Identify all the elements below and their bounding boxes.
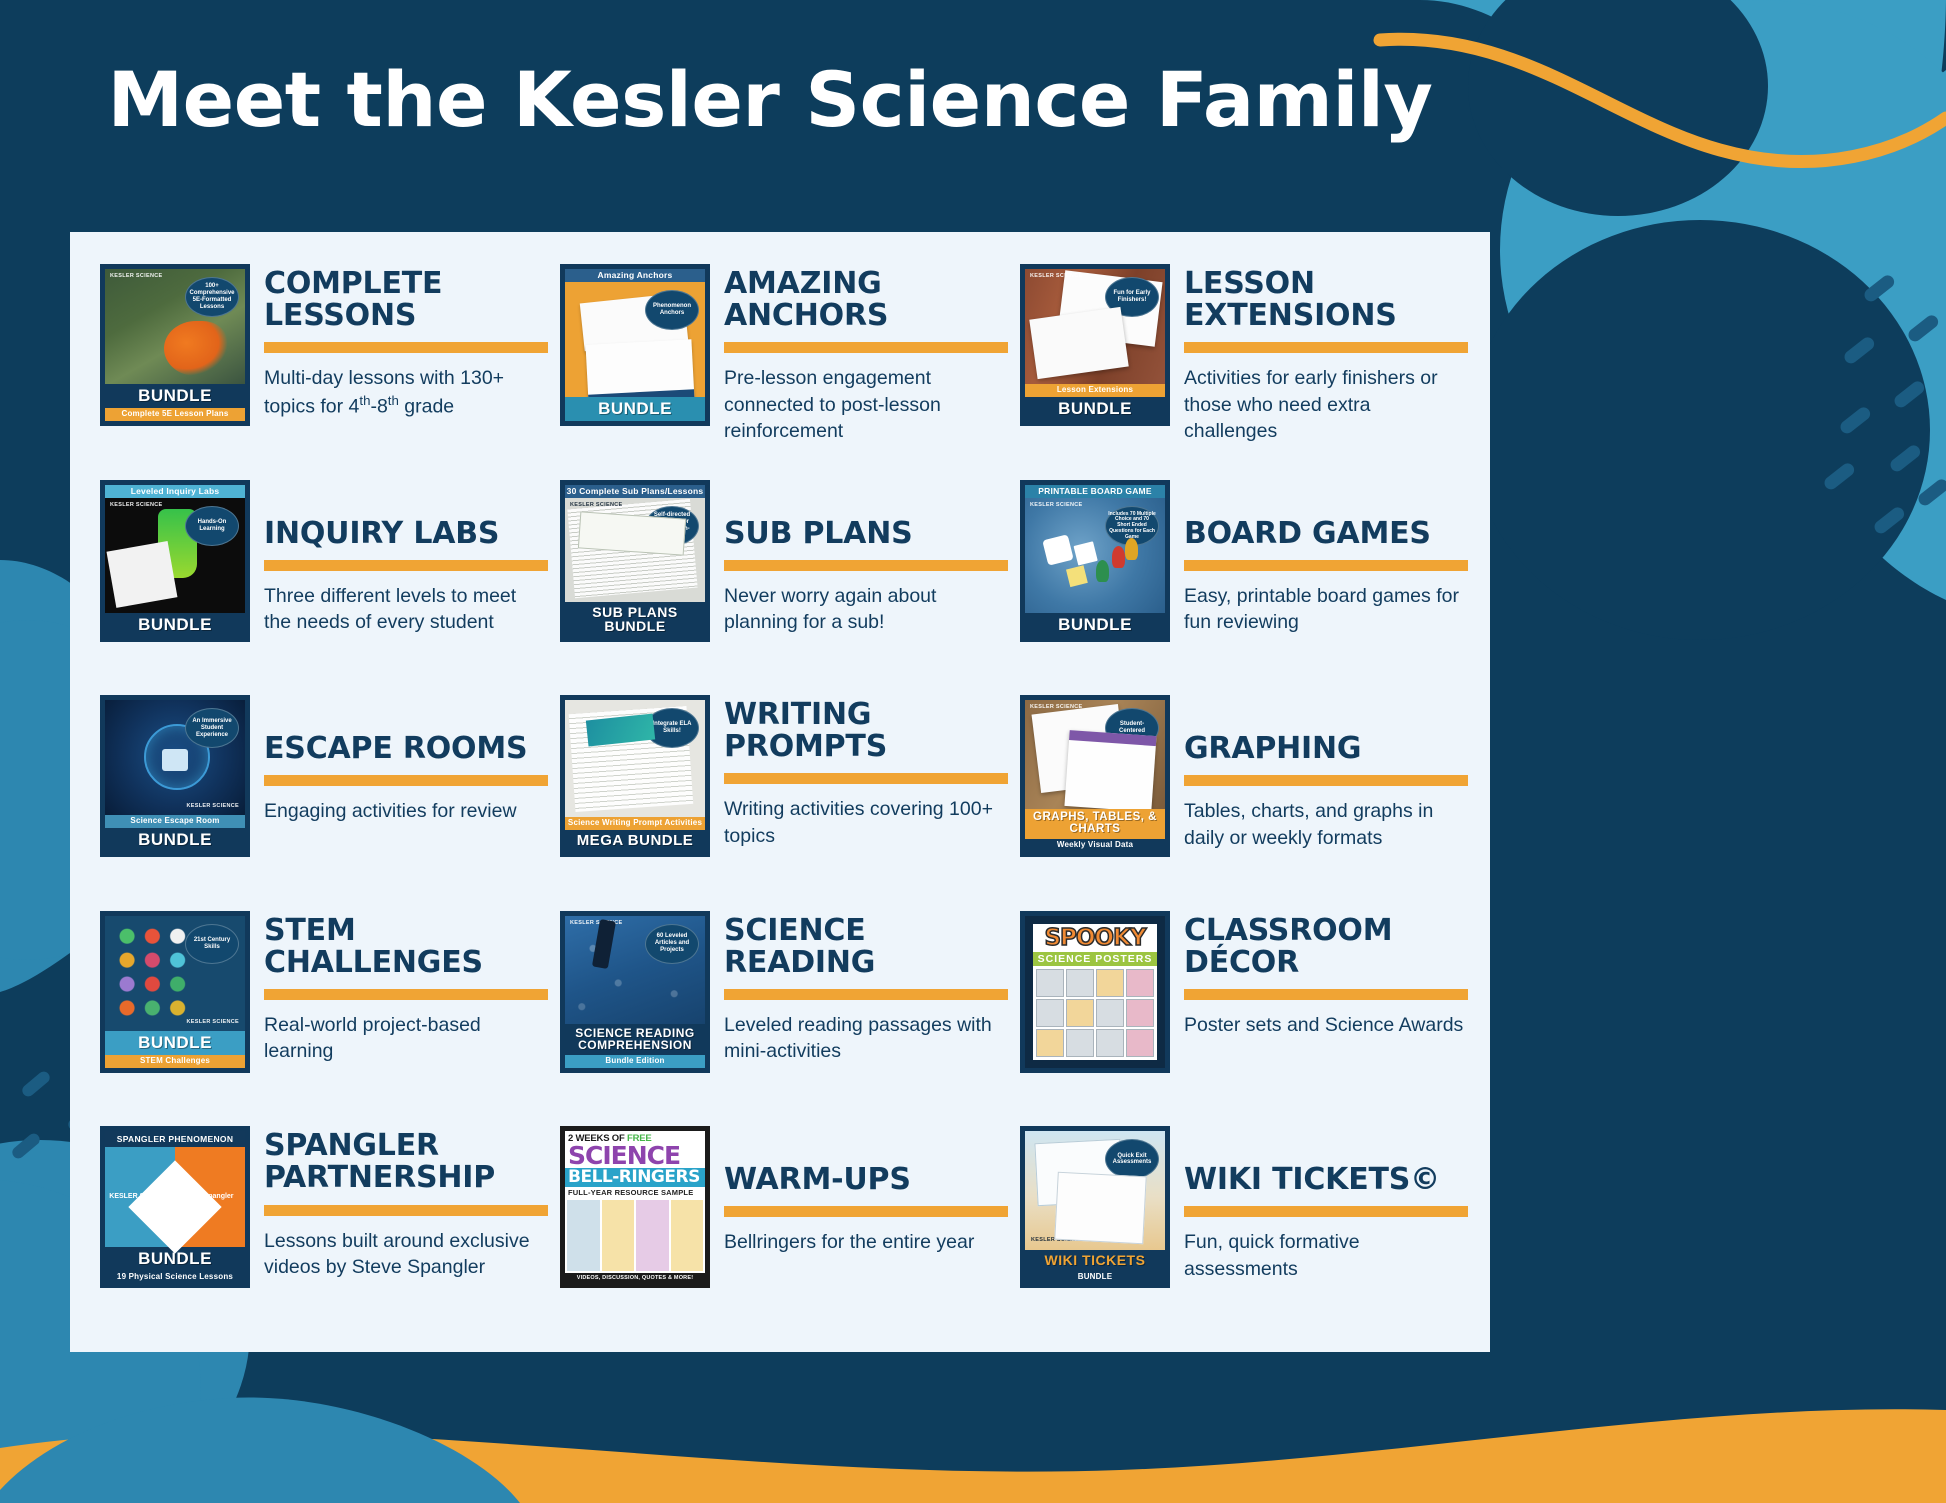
- poster-tiles: [1033, 966, 1157, 1060]
- product-card-writing-prompts[interactable]: Integrate ELA Skills! Science Writing Pr…: [560, 695, 1020, 911]
- spooky-subtitle: SCIENCE POSTERS: [1033, 952, 1157, 966]
- product-description: Never worry again about planning for a s…: [724, 583, 1008, 636]
- thumb-strip-label: Science Escape Room: [105, 815, 245, 828]
- thumb-art: KESLER SCIENCE 21st Century Skills: [105, 916, 245, 1031]
- navy-circle-right: [1470, 220, 1930, 640]
- product-grid: KESLER SCIENCE 100+ Comprehensive 5E-For…: [70, 250, 1490, 1352]
- thumb-art: KESLER SCIENCE stevespangler: [105, 1147, 245, 1246]
- bell-line-3: BELL-RINGERS: [565, 1168, 705, 1187]
- product-card-stem-challenges[interactable]: KESLER SCIENCE 21st Century Skills BUNDL…: [100, 911, 560, 1127]
- sample-tiles: [565, 1198, 705, 1273]
- kesler-logo-icon: KESLER SCIENCE: [110, 274, 163, 280]
- thumb-art: KESLER SCIENCE An Immersive Student Expe…: [105, 700, 245, 815]
- product-thumbnail[interactable]: KESLER SCIENCE Student-Centered GRAPHS, …: [1020, 695, 1170, 857]
- product-thumbnail[interactable]: Leveled Inquiry Labs KESLER SCIENCE Hand…: [100, 480, 250, 642]
- thumb-badge: 60 Leveled Articles and Projects: [645, 924, 699, 964]
- thumb-art: KESLER SCIENCE Self-directed Lessons for…: [565, 498, 705, 602]
- product-title: WIKI TICKETS©: [1184, 1164, 1468, 1196]
- thumb-bundle-label: MEGA BUNDLE: [565, 830, 705, 852]
- product-thumbnail[interactable]: KESLER SCIENCE Fun for Early Finishers! …: [1020, 264, 1170, 426]
- product-card-science-reading[interactable]: KESLER SCIENCE 60 Leveled Articles and P…: [560, 911, 1020, 1127]
- title-underline: [1184, 989, 1468, 1000]
- product-description: Three different levels to meet the needs…: [264, 583, 548, 636]
- kesler-logo-icon: KESLER SCIENCE: [1030, 705, 1083, 711]
- thumb-art: KESLER SCIENCE Hands-On Learning: [105, 498, 245, 613]
- kesler-logo-icon: KESLER SCIENCE: [570, 503, 623, 509]
- title-underline: [264, 560, 548, 571]
- product-description: Lessons built around exclusive videos by…: [264, 1228, 548, 1281]
- product-title: LESSON EXTENSIONS: [1184, 268, 1468, 332]
- product-card-sub-plans[interactable]: 30 Complete Sub Plans/Lessons KESLER SCI…: [560, 480, 1020, 696]
- thumb-bundle-label: BUNDLE: [105, 613, 245, 637]
- product-thumbnail[interactable]: KESLER SCIENCE 60 Leveled Articles and P…: [560, 911, 710, 1073]
- product-description: Leveled reading passages with mini-activ…: [724, 1012, 1008, 1065]
- product-thumbnail[interactable]: SPANGLER PHENOMENON KESLER SCIENCE steve…: [100, 1126, 250, 1288]
- product-description: Writing activities covering 100+ topics: [724, 796, 1008, 849]
- thumb-bundle-label: SCIENCE READING COMPREHENSION: [565, 1024, 705, 1055]
- title-underline: [1184, 560, 1468, 571]
- thumb-bundle-label: BUNDLE: [105, 828, 245, 852]
- thumb-bundle-label: BUNDLE: [1025, 397, 1165, 421]
- thumb-art: Integrate ELA Skills!: [565, 700, 705, 817]
- product-card-graphing[interactable]: KESLER SCIENCE Student-Centered GRAPHS, …: [1020, 695, 1480, 911]
- thumb-strip-label: Bundle Edition: [565, 1055, 705, 1068]
- thumb-badge: Phenomenon Anchors: [645, 290, 699, 330]
- thumb-badge: 100+ Comprehensive 5E-Formatted Lessons: [185, 277, 239, 317]
- product-thumbnail[interactable]: KESLER SCIENCE An Immersive Student Expe…: [100, 695, 250, 857]
- thumb-bundle-label: BUNDLE: [105, 384, 245, 408]
- thumb-badge: Student-Centered: [1105, 708, 1159, 748]
- product-title: SCIENCE READING: [724, 915, 1008, 979]
- kesler-logo-icon: KESLER SCIENCE: [1031, 1238, 1084, 1244]
- title-underline: [724, 560, 1008, 571]
- thumb-top-label: Leveled Inquiry Labs: [105, 485, 245, 498]
- product-title: SPANGLER PARTNERSHIP: [264, 1130, 548, 1194]
- product-card-lesson-extensions[interactable]: KESLER SCIENCE Fun for Early Finishers! …: [1020, 264, 1480, 480]
- thumb-badge: Hands-On Learning: [185, 506, 239, 546]
- title-underline: [264, 342, 548, 353]
- thumb-strip-label: BUNDLE: [1025, 1271, 1165, 1284]
- thumb-strip-label: Weekly Visual Data: [1025, 839, 1165, 852]
- thumb-strip-label: Lesson Extensions: [1025, 384, 1165, 397]
- product-title: STEM CHALLENGES: [264, 915, 548, 979]
- title-underline: [264, 775, 548, 786]
- thumb-strip-label: VIDEOS, DISCUSSION, QUOTES & MORE!: [565, 1273, 705, 1283]
- title-underline: [724, 342, 1008, 353]
- product-title: ESCAPE ROOMS: [264, 733, 548, 765]
- product-description: Easy, printable board games for fun revi…: [1184, 583, 1468, 636]
- thumb-art: KESLER SCIENCE 60 Leveled Articles and P…: [565, 916, 705, 1024]
- product-thumbnail[interactable]: KESLER SCIENCE 100+ Comprehensive 5E-For…: [100, 264, 250, 426]
- thumb-bundle-label: SUB PLANS BUNDLE: [565, 602, 705, 637]
- product-title: BOARD GAMES: [1184, 518, 1468, 550]
- bell-line-2: SCIENCE: [565, 1144, 705, 1168]
- product-thumbnail[interactable]: SPOOKY SCIENCE POSTERS: [1020, 911, 1170, 1073]
- title-underline: [1184, 1206, 1468, 1217]
- thumb-strip-label: STEM Challenges: [105, 1055, 245, 1068]
- product-card-warm-ups[interactable]: 2 WEEKS OF FREE SCIENCE BELL-RINGERS FUL…: [560, 1126, 1020, 1342]
- product-title: AMAZING ANCHORS: [724, 268, 1008, 332]
- product-card-complete-lessons[interactable]: KESLER SCIENCE 100+ Comprehensive 5E-For…: [100, 264, 560, 480]
- thumb-badge: Fun for Early Finishers!: [1105, 277, 1159, 317]
- product-description: Engaging activities for review: [264, 798, 548, 824]
- product-description: Tables, charts, and graphs in daily or w…: [1184, 798, 1468, 851]
- product-title: CLASSROOM DÉCOR: [1184, 915, 1468, 979]
- thumb-art: KESLER SCIENCE Quick Exit Assessments: [1025, 1131, 1165, 1249]
- title-underline: [264, 989, 548, 1000]
- product-card-wiki-tickets[interactable]: KESLER SCIENCE Quick Exit Assessments WI…: [1020, 1126, 1480, 1342]
- thumb-art: KESLER SCIENCE Student-Centered: [1025, 700, 1165, 809]
- product-thumbnail[interactable]: KESLER SCIENCE 21st Century Skills BUNDL…: [100, 911, 250, 1073]
- product-thumbnail[interactable]: 2 WEEKS OF FREE SCIENCE BELL-RINGERS FUL…: [560, 1126, 710, 1288]
- title-underline: [724, 989, 1008, 1000]
- product-card-board-games[interactable]: PRINTABLE BOARD GAME KESLER SCIENCE Incl…: [1020, 480, 1480, 696]
- product-thumbnail[interactable]: Integrate ELA Skills! Science Writing Pr…: [560, 695, 710, 857]
- product-description: Fun, quick formative assessments: [1184, 1229, 1468, 1282]
- kesler-logo-icon: KESLER SCIENCE: [187, 1020, 240, 1026]
- thumb-art: KESLER SCIENCE Includes 70 Multiple Choi…: [1025, 498, 1165, 613]
- thumb-strip-label: Complete 5E Lesson Plans: [105, 408, 245, 421]
- product-card-escape-rooms[interactable]: KESLER SCIENCE An Immersive Student Expe…: [100, 695, 560, 911]
- product-title: INQUIRY LABS: [264, 518, 548, 550]
- title-underline: [724, 773, 1008, 784]
- thumb-top-label: SPANGLER PHENOMENON: [105, 1131, 245, 1147]
- product-thumbnail[interactable]: PRINTABLE BOARD GAME KESLER SCIENCE Incl…: [1020, 480, 1170, 642]
- product-panel: KESLER SCIENCE 100+ Comprehensive 5E-For…: [70, 232, 1490, 1352]
- product-description: Activities for early finishers or those …: [1184, 365, 1468, 444]
- thumb-bundle-label: BUNDLE: [1025, 613, 1165, 637]
- product-description: Bellringers for the entire year: [724, 1229, 1008, 1255]
- title-underline: [1184, 775, 1468, 786]
- thumb-top-label: PRINTABLE BOARD GAME: [1025, 485, 1165, 498]
- title-underline: [264, 1205, 548, 1216]
- product-description: Pre-lesson engagement connected to post-…: [724, 365, 1008, 444]
- product-card-classroom-decor[interactable]: SPOOKY SCIENCE POSTERS CLASSROOM DÉCOR P…: [1020, 911, 1480, 1127]
- product-description: Multi-day lessons with 130+ topics for 4…: [264, 365, 548, 419]
- product-card-inquiry-labs[interactable]: Leveled Inquiry Labs KESLER SCIENCE Hand…: [100, 480, 560, 696]
- thumb-bundle-label: BUNDLE: [105, 1031, 245, 1055]
- kesler-logo-icon: KESLER SCIENCE: [570, 921, 623, 927]
- product-title: WARM-UPS: [724, 1164, 1008, 1196]
- thumb-badge: Includes 70 Multiple Choice and 70 Short…: [1105, 506, 1159, 546]
- kesler-logo-icon: KESLER SCIENCE: [187, 804, 240, 810]
- title-underline: [724, 1206, 1008, 1217]
- product-card-spangler-partnership[interactable]: SPANGLER PHENOMENON KESLER SCIENCE steve…: [100, 1126, 560, 1342]
- title-underline: [1184, 342, 1468, 353]
- thumb-top-label: Amazing Anchors: [565, 269, 705, 282]
- product-thumbnail[interactable]: Amazing Anchors Phenomenon Anchors BUNDL…: [560, 264, 710, 426]
- product-title: WRITING PROMPTS: [724, 699, 1008, 763]
- bell-line-4: FULL-YEAR RESOURCE SAMPLE: [565, 1187, 705, 1198]
- kesler-logo-icon: KESLER SCIENCE: [1030, 274, 1083, 280]
- thumb-strip-label: Science Writing Prompt Activities: [565, 817, 705, 830]
- product-title: GRAPHING: [1184, 733, 1468, 765]
- product-thumbnail[interactable]: 30 Complete Sub Plans/Lessons KESLER SCI…: [560, 480, 710, 642]
- page-title: Meet the Kesler Science Family: [0, 62, 1540, 138]
- kesler-logo-icon: KESLER SCIENCE: [110, 503, 163, 509]
- thumb-badge: Quick Exit Assessments: [1105, 1139, 1159, 1179]
- product-title: COMPLETE LESSONS: [264, 268, 548, 332]
- thumb-badge: An Immersive Student Experience: [185, 708, 239, 748]
- thumb-art: KESLER SCIENCE 100+ Comprehensive 5E-For…: [105, 269, 245, 384]
- product-title: SUB PLANS: [724, 518, 1008, 550]
- thumb-art: KESLER SCIENCE Fun for Early Finishers!: [1025, 269, 1165, 384]
- thumb-top-label: 30 Complete Sub Plans/Lessons: [565, 485, 705, 498]
- spooky-title: SPOOKY: [1033, 927, 1157, 950]
- product-description: Poster sets and Science Awards: [1184, 1012, 1468, 1038]
- thumb-strip-label: 19 Physical Science Lessons: [105, 1271, 245, 1284]
- thumb-bundle-label: GRAPHS, TABLES, & CHARTS: [1025, 809, 1165, 839]
- thumb-badge: Integrate ELA Skills!: [645, 708, 699, 748]
- thumb-badge: Self-directed Lessons for Online or In-C…: [645, 506, 699, 546]
- product-thumbnail[interactable]: KESLER SCIENCE Quick Exit Assessments WI…: [1020, 1126, 1170, 1288]
- kesler-logo-icon: KESLER SCIENCE: [1030, 503, 1083, 509]
- thumb-art: Phenomenon Anchors: [565, 282, 705, 397]
- product-card-amazing-anchors[interactable]: Amazing Anchors Phenomenon Anchors BUNDL…: [560, 264, 1020, 480]
- thumb-bundle-label: BUNDLE: [565, 397, 705, 421]
- thumb-badge: 21st Century Skills: [185, 924, 239, 964]
- product-description: Real-world project-based learning: [264, 1012, 548, 1065]
- thumb-bundle-label: WIKI TICKETS: [1025, 1250, 1165, 1271]
